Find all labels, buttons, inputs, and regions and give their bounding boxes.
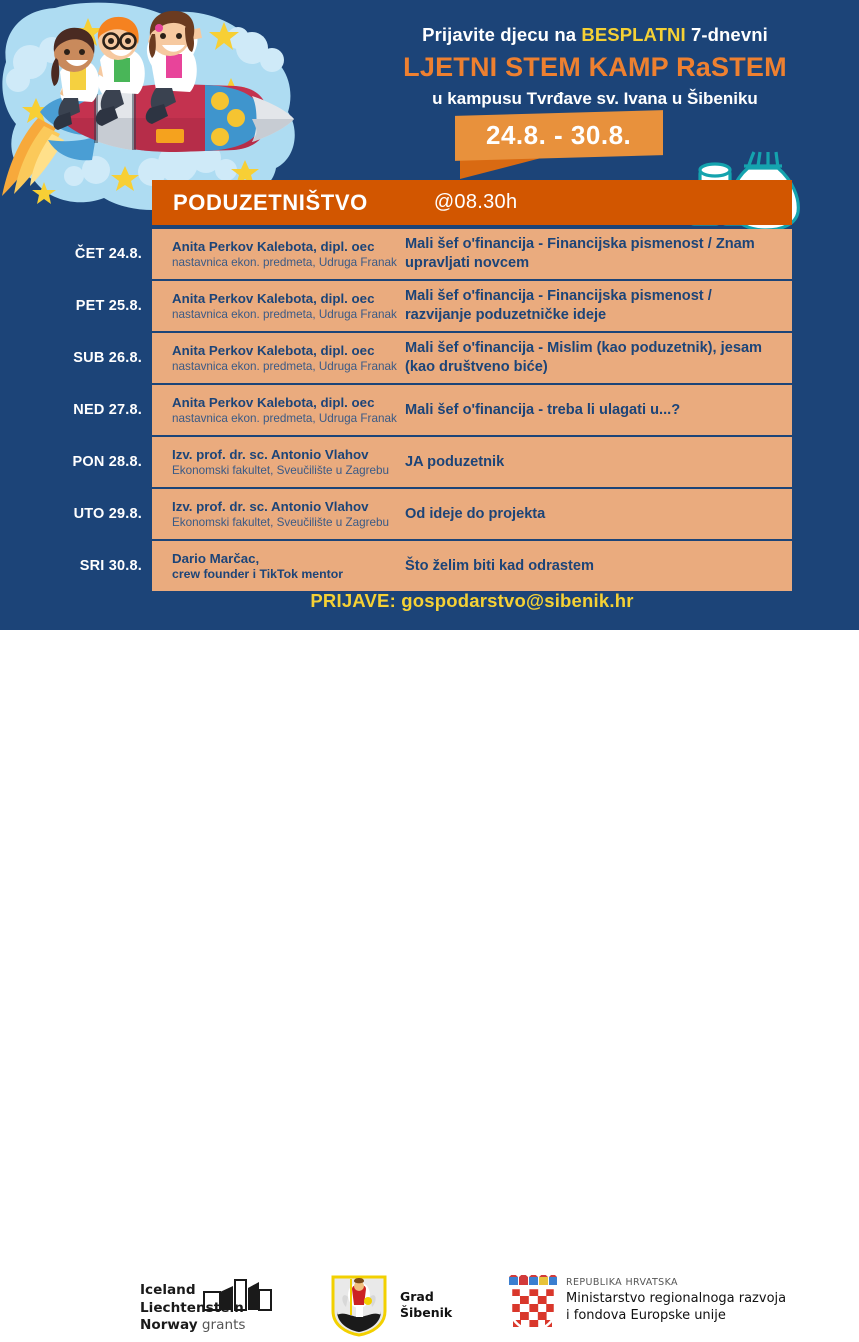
lecturer-organization: nastavnica ekon. predmeta, Udruga Franak	[172, 359, 405, 374]
headline-line1-before: Prijavite djecu na	[422, 24, 581, 45]
grad-line1: Grad	[400, 1289, 452, 1305]
poster-root: Prijavite djecu na BESPLATNI 7-dnevni LJ…	[0, 0, 859, 720]
headline-line1: Prijavite djecu na BESPLATNI 7-dnevni	[345, 22, 845, 48]
headline-block: Prijavite djecu na BESPLATNI 7-dnevni LJ…	[345, 22, 845, 112]
row-topic: Mali šef o'financija - treba li ulagati …	[405, 401, 792, 420]
ministry-line1: Ministarstvo regionalnoga razvoja	[566, 1291, 786, 1308]
table-row: UTO 29.8. Izv. prof. dr. sc. Antonio Vla…	[152, 489, 792, 539]
ministry-name-label: Ministarstvo regionalnoga razvoja i fond…	[566, 1291, 786, 1324]
row-lecturer: Izv. prof. dr. sc. Antonio Vlahov Ekonom…	[152, 499, 405, 530]
lecturer-organization: Ekonomski fakultet, Sveučilište u Zagreb…	[172, 463, 405, 478]
table-row: ČET 24.8. Anita Perkov Kalebota, dipl. o…	[152, 229, 792, 279]
lecturer-name: Izv. prof. dr. sc. Antonio Vlahov	[172, 447, 405, 463]
table-header-time: @08.30h	[434, 191, 518, 214]
row-lecturer: Izv. prof. dr. sc. Antonio Vlahov Ekonom…	[152, 447, 405, 478]
row-day-label: NED 27.8.	[60, 385, 142, 435]
schedule-table: ČET 24.8. Anita Perkov Kalebota, dipl. o…	[152, 229, 792, 591]
lecturer-name: Anita Perkov Kalebota, dipl. oec	[172, 395, 405, 411]
lecturer-organization: nastavnica ekon. predmeta, Udruga Franak	[172, 307, 405, 322]
grad-line2: Šibenik	[400, 1305, 452, 1321]
headline-location: u kampusu Tvrđave sv. Ivana u Šibeniku	[345, 86, 845, 112]
row-topic: Mali šef o'financija - Mislim (kao poduz…	[405, 339, 792, 377]
table-row: NED 27.8. Anita Perkov Kalebota, dipl. o…	[152, 385, 792, 435]
eea-line-norway: Norway grants	[140, 1317, 246, 1335]
ministry-country-label: REPUBLIKA HRVATSKA	[566, 1277, 678, 1288]
lecturer-name: Izv. prof. dr. sc. Antonio Vlahov	[172, 499, 405, 515]
lecturer-organization: crew founder i TikTok mentor	[172, 567, 405, 582]
lecturer-name: Anita Perkov Kalebota, dipl. oec	[172, 343, 405, 359]
row-day-label: ČET 24.8.	[60, 229, 142, 279]
lecturer-organization: nastavnica ekon. predmeta, Udruga Franak	[172, 255, 405, 270]
croatia-coat-of-arms-icon	[508, 1275, 558, 1333]
eea-grants-mark-icon	[203, 1278, 273, 1317]
table-row: SUB 26.8. Anita Perkov Kalebota, dipl. o…	[152, 333, 792, 383]
row-topic: Mali šef o'financija - Financijska pisme…	[405, 287, 792, 325]
eea-grants-word: grants	[198, 1317, 246, 1333]
lecturer-organization: nastavnica ekon. predmeta, Udruga Franak	[172, 411, 405, 426]
row-lecturer: Anita Perkov Kalebota, dipl. oec nastavn…	[152, 343, 405, 374]
row-day-label: UTO 29.8.	[60, 489, 142, 539]
ministry-line2: i fondova Europske unije	[566, 1308, 786, 1325]
row-day-label: SUB 26.8.	[60, 333, 142, 383]
date-range-text: 24.8. - 30.8.	[486, 120, 631, 151]
headline-line1-after: 7-dnevni	[686, 24, 768, 45]
row-day-label: PON 28.8.	[60, 437, 142, 487]
grad-sibenik-label: Grad Šibenik	[400, 1289, 452, 1321]
table-row: SRI 30.8. Dario Marčac, crew founder i T…	[152, 541, 792, 591]
registration-contact: PRIJAVE: gospodarstvo@sibenik.hr	[152, 590, 792, 612]
footer-logos: Iceland Liechtenstein Norway grants	[0, 630, 859, 720]
lecturer-name: Anita Perkov Kalebota, dipl. oec	[172, 291, 405, 307]
table-header-title: PODUZETNIŠTVO	[173, 190, 368, 216]
headline-camp-title: LJETNI STEM KAMP RaSTEM	[345, 48, 845, 86]
row-lecturer: Anita Perkov Kalebota, dipl. oec nastavn…	[152, 291, 405, 322]
lecturer-organization: Ekonomski fakultet, Sveučilište u Zagreb…	[172, 515, 405, 530]
table-row: PON 28.8. Izv. prof. dr. sc. Antonio Vla…	[152, 437, 792, 487]
grad-sibenik-logo: Grad Šibenik	[330, 1275, 470, 1335]
row-topic: Što želim biti kad odrastem	[405, 557, 792, 576]
headline-highlight-besplatni: BESPLATNI	[581, 24, 685, 45]
row-day-label: PET 25.8.	[60, 281, 142, 331]
row-lecturer: Anita Perkov Kalebota, dipl. oec nastavn…	[152, 239, 405, 270]
lecturer-name: Dario Marčac,	[172, 551, 405, 567]
sibenik-coat-of-arms-icon	[330, 1275, 388, 1337]
row-lecturer: Anita Perkov Kalebota, dipl. oec nastavn…	[152, 395, 405, 426]
lecturer-name: Anita Perkov Kalebota, dipl. oec	[172, 239, 405, 255]
row-topic: JA poduzetnik	[405, 453, 792, 472]
date-badge: 24.8. - 30.8.	[455, 113, 663, 158]
table-header-bar: PODUZETNIŠTVO @08.30h	[152, 180, 792, 225]
table-row: PET 25.8. Anita Perkov Kalebota, dipl. o…	[152, 281, 792, 331]
row-lecturer: Dario Marčac, crew founder i TikTok ment…	[152, 551, 405, 582]
row-topic: Mali šef o'financija - Financijska pisme…	[405, 235, 792, 273]
date-badge-banner: 24.8. - 30.8.	[455, 110, 663, 161]
ministry-logo: REPUBLIKA HRVATSKA Ministarstvo regional…	[508, 1275, 808, 1335]
eea-norway: Norway	[140, 1317, 198, 1333]
row-day-label: SRI 30.8.	[60, 541, 142, 591]
row-topic: Od ideje do projekta	[405, 505, 792, 524]
